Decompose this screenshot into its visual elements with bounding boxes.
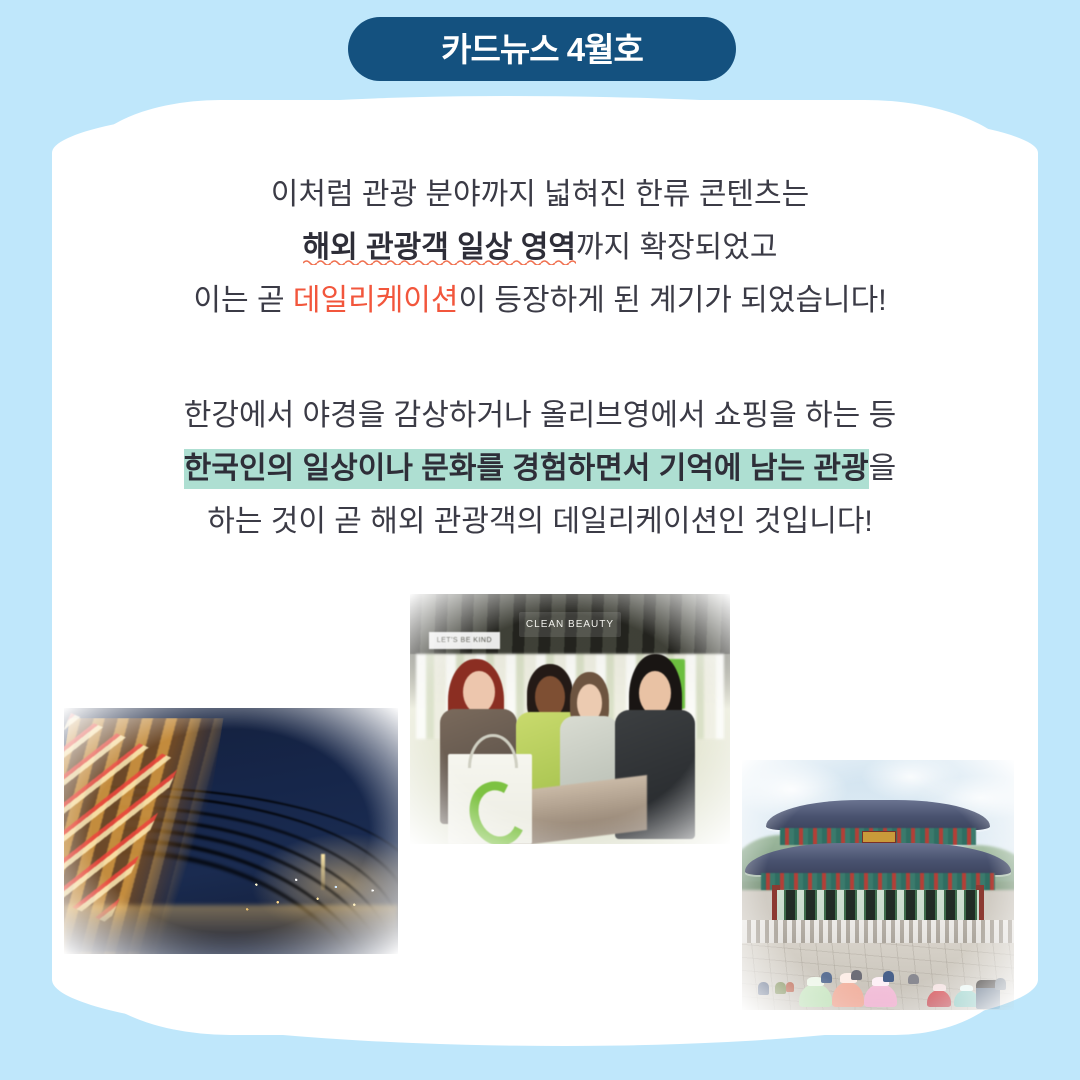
paragraph-1-line-3-prefix: 이는 곧 bbox=[193, 284, 292, 317]
photo-gyeongbokgung-palace bbox=[742, 760, 1014, 1010]
hanbok-visitor-coral bbox=[832, 982, 865, 1008]
visitor-3 bbox=[786, 982, 794, 993]
paragraph-1-line-2: 해외 관광객 일상 영역까지 확장되었고 bbox=[60, 221, 1020, 274]
lets-be-kind-sign: LET'S BE KIND bbox=[429, 632, 499, 650]
wavy-underlined-emphasis: 해외 관광객 일상 영역 bbox=[303, 231, 576, 266]
paragraph-1-line-1: 이처럼 관광 분야까지 넓혀진 한류 콘텐츠는 bbox=[60, 168, 1020, 221]
header-badge-label: 카드뉴스 4월호 bbox=[441, 33, 643, 66]
paragraph-1-line-2-rest: 까지 확장되었고 bbox=[576, 231, 778, 264]
paragraph-2-line-1: 한강에서 야경을 감상하거나 올리브영에서 쇼핑을 하는 등 bbox=[60, 389, 1020, 442]
paragraph-2-line-2-rest: 을 bbox=[869, 452, 897, 485]
photo-hangang-inner bbox=[64, 708, 398, 954]
visitor-4 bbox=[821, 972, 832, 983]
photo-hangang-fountain bbox=[64, 708, 398, 954]
visitor-8 bbox=[995, 978, 1006, 990]
card-news-slide: 카드뉴스 4월호 이처럼 관광 분야까지 넓혀진 한류 콘텐츠는 해외 관광객 … bbox=[0, 0, 1080, 1080]
visitor-5 bbox=[851, 970, 862, 980]
visitor-1 bbox=[758, 982, 769, 996]
visitor-2 bbox=[775, 982, 786, 994]
stone-terrace bbox=[742, 920, 1014, 943]
river-water-reflection bbox=[64, 905, 398, 954]
paragraph-2-line-3: 하는 것이 곧 해외 관광객의 데일리케이션인 것입니다! bbox=[60, 495, 1020, 548]
paragraph-1-line-3: 이는 곧 데일리케이션이 등장하게 된 계기가 되었습니다! bbox=[60, 274, 1020, 327]
terrace-balustrade bbox=[742, 920, 1014, 943]
palace-name-plaque bbox=[862, 831, 897, 843]
palace-lower-eave-dancheong bbox=[761, 873, 995, 891]
visitor-6 bbox=[883, 971, 894, 982]
olive-young-o-logo-icon bbox=[461, 774, 533, 844]
clean-beauty-sign: CLEAN BEAUTY bbox=[519, 612, 621, 637]
stone-plaza bbox=[742, 943, 1014, 1011]
palace-hall-facade bbox=[777, 890, 978, 923]
olive-young-shopping-bag bbox=[448, 754, 531, 844]
accent-keyword-dailycation: 데일리케이션 bbox=[293, 284, 459, 317]
mint-highlighted-emphasis: 한국인의 일상이나 문화를 경험하면서 기억에 남는 관광 bbox=[184, 449, 869, 489]
paragraph-1-line-3-suffix: 이 등장하게 된 계기가 되었습니다! bbox=[459, 284, 887, 317]
photo-oliveyoung-inner: CLEAN BEAUTY LET'S BE KIND bbox=[410, 594, 730, 844]
palace-doors bbox=[777, 890, 978, 923]
paragraph-spacer bbox=[60, 327, 1020, 389]
visitor-7 bbox=[908, 974, 919, 984]
hanbok-visitor-green bbox=[799, 984, 832, 1007]
photo-gyeongbokgung-inner bbox=[742, 760, 1014, 1010]
paragraph-2: 한강에서 야경을 감상하거나 올리브영에서 쇼핑을 하는 등 한국인의 일상이나… bbox=[60, 389, 1020, 548]
photo-oliveyoung-store: CLEAN BEAUTY LET'S BE KIND bbox=[410, 594, 730, 844]
hanbok-visitor-teal bbox=[954, 990, 978, 1007]
body-copy: 이처럼 관광 분야까지 넓혀진 한류 콘텐츠는 해외 관광객 일상 영역까지 확… bbox=[60, 168, 1020, 548]
header-badge: 카드뉴스 4월호 bbox=[348, 17, 736, 81]
paragraph-1: 이처럼 관광 분야까지 넓혀진 한류 콘텐츠는 해외 관광객 일상 영역까지 확… bbox=[60, 168, 1020, 327]
hanbok-visitor-red bbox=[927, 990, 951, 1008]
hanbok-visitor-pink bbox=[864, 984, 897, 1007]
paragraph-2-line-2: 한국인의 일상이나 문화를 경험하면서 기억에 남는 관광을 bbox=[60, 442, 1020, 495]
